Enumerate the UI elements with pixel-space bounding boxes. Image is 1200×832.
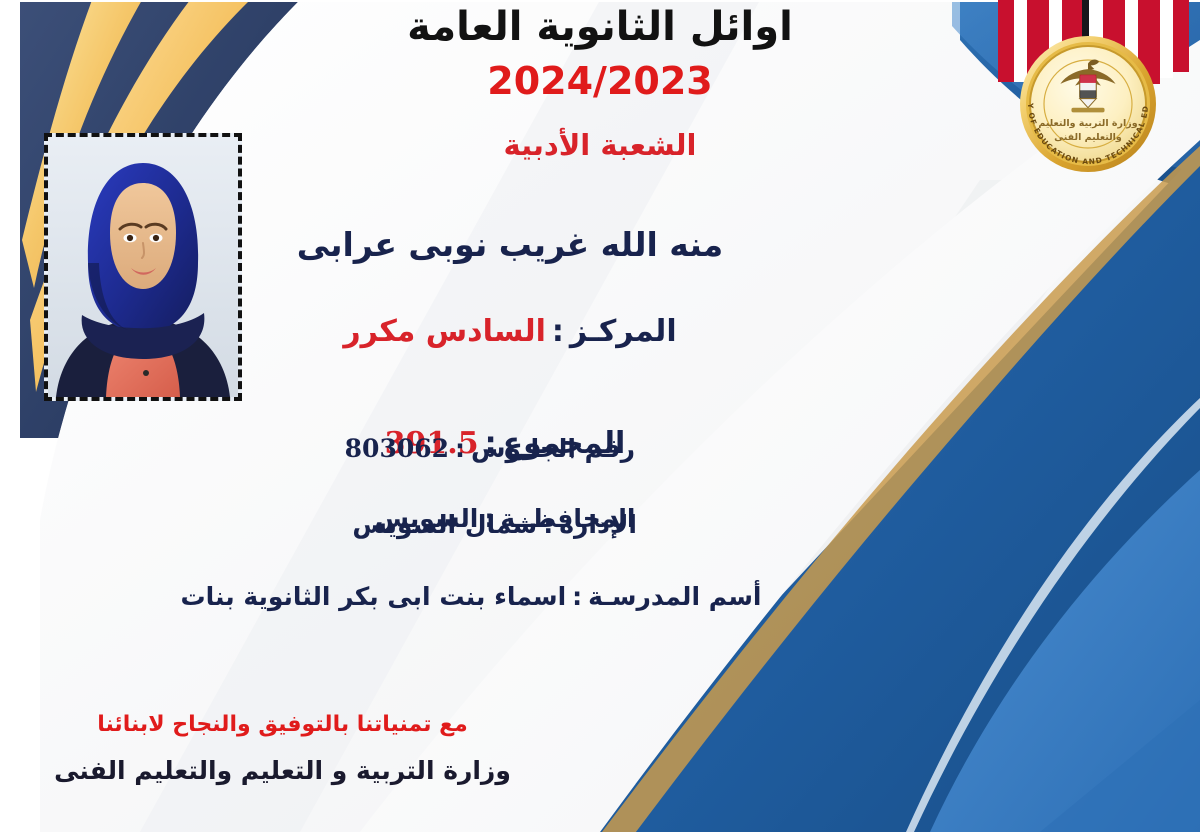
school-row: أسم المدرسـة:اسماء بنت ابى بكر الثانوية …	[0, 584, 942, 610]
branch-label: الشعبة الأدبية	[0, 130, 1200, 160]
seat-separator: :	[449, 434, 471, 463]
wish-message: مع تمنياتنا بالتوفيق والنجاح لابنائنا	[0, 713, 565, 736]
rank-label: المركـز	[570, 314, 677, 349]
administration-row: الإدارة:شمال السويس	[352, 512, 637, 538]
school-separator: :	[566, 582, 588, 611]
school-value: اسماء بنت ابى بكر الثانوية بنات	[181, 582, 567, 611]
ministry-name: وزارة التربية و التعليم والتعليم الفنى	[0, 758, 565, 784]
administration-value: شمال السويس	[352, 510, 537, 539]
medal-center-line1: وزارة التربية والتعليم	[1038, 118, 1137, 129]
school-label: أسم المدرسـة	[588, 582, 761, 611]
academic-year: 2024/2023	[0, 62, 1200, 102]
seat-row: رقم الجلـوس:803062	[345, 436, 635, 462]
rank-value: السادس مكرر	[343, 314, 546, 349]
rank-row: المركـز:السادس مكرر	[0, 316, 1020, 348]
administration-separator: :	[537, 510, 559, 539]
student-name: منه الله غريب نوبى عرابى	[0, 228, 1020, 263]
certificate-card: MINISTRY OF EDUCATION AND TECHNICAL EDUC…	[0, 0, 1200, 832]
student-photo	[44, 133, 242, 401]
page-title: اوائل الثانوية العامة	[0, 6, 1200, 48]
rank-separator: :	[546, 314, 570, 349]
seat-label: رقم الجلـوس	[471, 434, 635, 463]
seat-value: 803062	[345, 434, 449, 463]
administration-label: الإدارة	[559, 510, 637, 539]
